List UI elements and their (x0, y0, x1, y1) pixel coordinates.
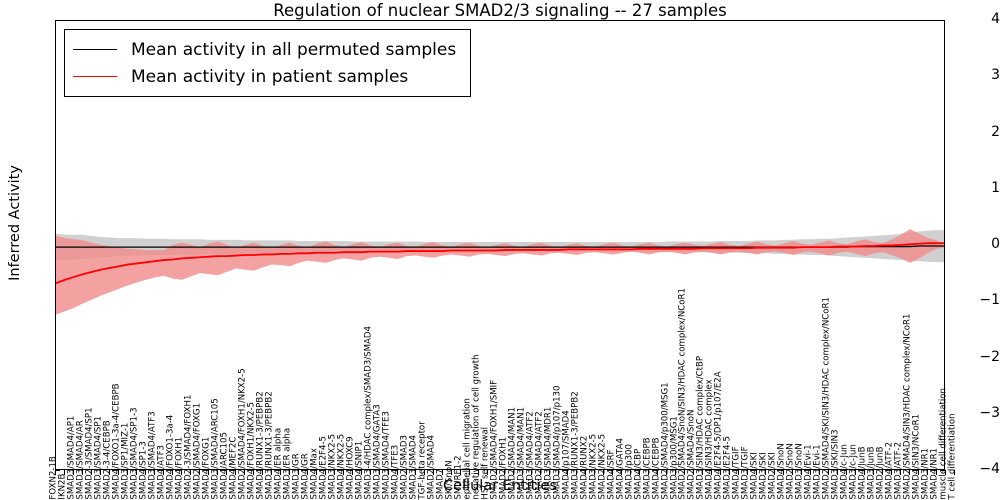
y-tick-label: −1 (954, 293, 1000, 307)
x-tick-label: SMAD3/SMAD4/ATF2 (526, 412, 535, 500)
x-tick-label: SMAD2/SMAD4/MAN1 (508, 407, 517, 500)
legend-label-permuted: Mean activity in all permuted samples (131, 40, 456, 60)
y-tick-label: 4 (954, 12, 1000, 26)
chart-figure: Regulation of nuclear SMAD2/3 signaling … (0, 0, 1000, 500)
y-tick-label: −3 (954, 406, 1000, 420)
legend-entry-patient: Mean activity in patient samples (73, 63, 456, 90)
legend-swatch-patient (73, 76, 117, 77)
y-axis-label: Inferred Activity (7, 0, 23, 448)
legend-entry-permuted: Mean activity in all permuted samples (73, 36, 456, 63)
x-tick-label: SMAD4/RUNX2 (580, 436, 589, 500)
y-tick-label: −2 (954, 350, 1000, 364)
x-tick-label: SMAD3/SMAD4/MDR1 (544, 407, 553, 500)
x-tick-label: SMAD2/SMAD4/ATF2 (535, 412, 544, 500)
y-tick-label: −4 (954, 462, 1000, 476)
y-tick-label: 2 (954, 125, 1000, 139)
x-tick-label: SMAD3/RUNX1-3/PEBPB2 (571, 392, 580, 500)
x-tick-label: SMAD2/SMAD4/p300/MSG1 (661, 383, 670, 500)
x-tick-label: SMAD3/SMAD4/MAN1 (517, 407, 526, 500)
x-tick-label: SMAD4/CEBPB (652, 438, 661, 500)
chart-legend: Mean activity in all permuted samples Me… (64, 29, 471, 97)
x-axis-tick-labels: FOXN2-1BIKN2BSMAD3/SMAD4/AP1SMAD3/SMAD4/… (55, 471, 945, 500)
x-tick-label: T cell differentiation (949, 414, 958, 500)
y-tick-label: 1 (954, 181, 1000, 195)
legend-swatch-permuted (73, 49, 117, 50)
y-tick-label: 3 (954, 68, 1000, 82)
x-tick-label: SMAD3/SMAD4/p107/p130 (553, 386, 562, 500)
legend-label-patient: Mean activity in patient samples (131, 67, 408, 87)
x-tick-label: SMAD4/SRF (607, 450, 616, 500)
x-tick-label: HSC self renewal (481, 427, 490, 500)
x-tick-label: SMAD3/CEBPB (643, 438, 652, 500)
x-tick-label: SMAD3/NKX2-5 (589, 434, 598, 500)
x-tick-label: SMAD4/p107/SMAD4 (562, 411, 571, 500)
x-tick-label: SMAD4/CBP (634, 449, 643, 500)
chart-title: Regulation of nuclear SMAD2/3 signaling … (55, 1, 945, 20)
x-tick-label: SMAD3/p300 (625, 444, 634, 500)
x-tick-label: SMAD4/GATA4 (616, 438, 625, 500)
x-tick-label: SMAD2/NKX2-5 (598, 434, 607, 500)
y-tick-label: 0 (954, 237, 1000, 251)
x-tick-label: SMAD2/SMAD4/FOXH1/SMIF (490, 380, 499, 500)
x-tick-label: SMAD2/FOXH1 (499, 437, 508, 500)
